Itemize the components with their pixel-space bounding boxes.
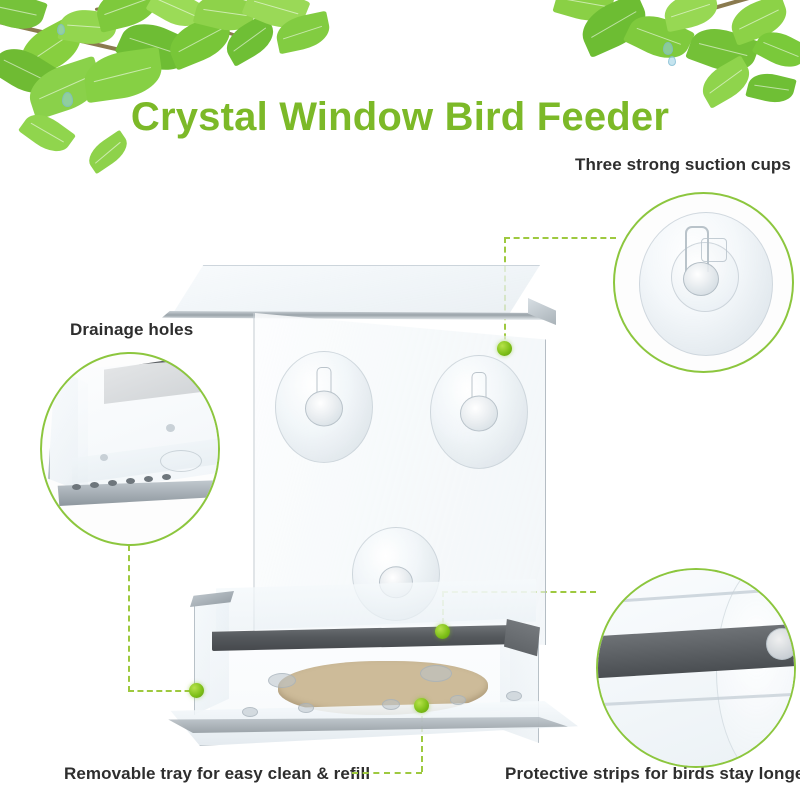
suction-cup-1 [275,351,373,463]
suction-cup-nub-detail [766,628,796,660]
water-droplet [663,42,673,55]
drainage-hole [126,478,135,484]
suction-cup-tab [701,238,727,262]
drainage-hole [108,480,117,486]
drainage-hole [242,707,258,717]
drainage-hole [90,482,99,488]
callout-label-removable-tray: Removable tray for easy clean & refill [64,764,370,784]
callout-label-protective-strips: Protective strips for birds stay longer [505,764,800,784]
callout-circle-suction-cups [613,192,794,373]
anchor-dot-drainage-holes [189,683,204,698]
anchor-dot-suction-cups [497,341,512,356]
drainage-hole [382,699,400,710]
tray-hole [100,454,108,461]
drainage-hole [506,691,522,701]
drainage-hole [72,484,81,490]
connector-drainage-vertical [128,545,130,692]
connector-tray-horizontal [352,772,422,774]
anchor-dot-removable-tray [414,698,429,713]
leaf [661,0,721,32]
feeder-roof-side [528,295,556,325]
drainage-hole [450,695,466,705]
infographic-canvas: Crystal Window Bird Feeder Three strong … [0,0,800,800]
drainage-hole [298,703,314,713]
suction-cup-nub [460,395,498,431]
product-illustration [150,255,580,755]
callout-circle-protective-strips [596,568,796,768]
water-droplet [57,24,65,35]
tray-recess-hole [268,673,296,688]
suction-cup-nub [305,390,343,426]
feeder-roof [170,265,540,318]
callout-label-suction-cups: Three strong suction cups [575,155,791,175]
water-droplet [668,56,676,66]
feeder-tray [168,573,568,723]
suction-cup-nub [683,262,719,296]
suction-cup-2 [430,355,528,469]
anchor-dot-protective-strips [435,624,450,639]
page-title: Crystal Window Bird Feeder [0,95,800,140]
tray-recess-hole [420,665,452,682]
connector-suction-horizontal [504,237,616,239]
